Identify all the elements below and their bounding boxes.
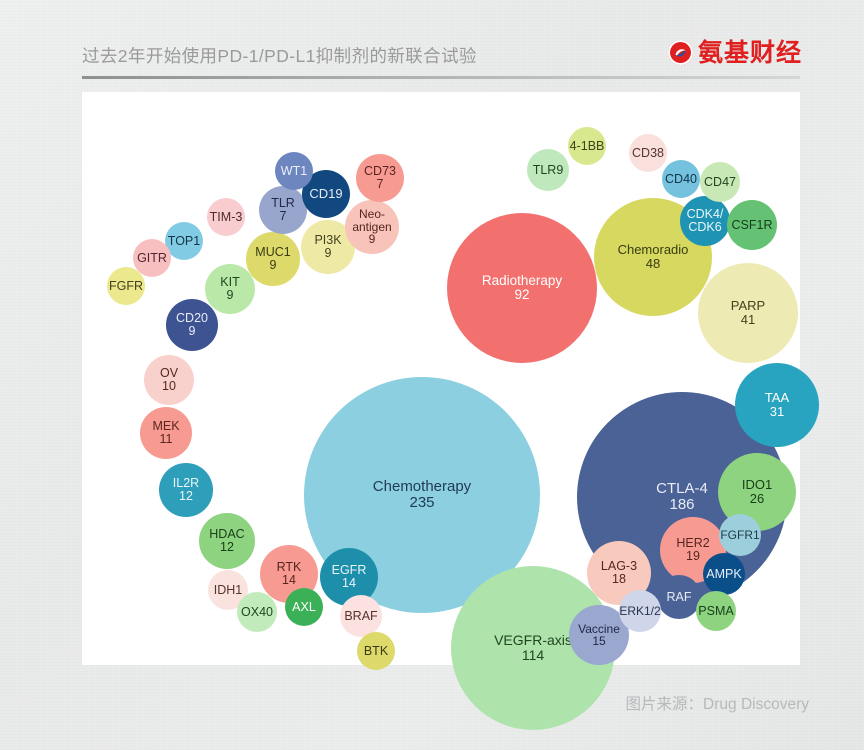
bubble-muc1[interactable]: MUC19 [246, 232, 300, 286]
bubble-ampk[interactable]: AMPK [703, 553, 745, 595]
bubble-value: 11 [160, 433, 173, 446]
bubble-raf[interactable]: RAF [657, 575, 701, 619]
bubble-cdk4-cdk6[interactable]: CDK4/ CDK6 [680, 196, 730, 246]
bubble-radiotherapy[interactable]: Radiotherapy92 [447, 213, 597, 363]
brand-name: 氨基财经 [698, 40, 802, 65]
bubble-kit[interactable]: KIT9 [205, 264, 255, 314]
bubble-tlr9[interactable]: TLR9 [527, 149, 569, 191]
brand-logo: 氨基财经 [668, 40, 802, 65]
bubble-value: 48 [646, 257, 660, 271]
bubble-label: AMPK [706, 568, 741, 581]
bubble-label: TAA [765, 391, 789, 405]
bubble-label: GITR [137, 252, 167, 265]
bubble-label: FGFR [109, 280, 143, 293]
header-divider [82, 76, 800, 79]
bubble-value: 9 [189, 325, 196, 338]
bubble-value: 12 [179, 490, 193, 503]
bubble-4-1bb[interactable]: 4-1BB [568, 127, 606, 165]
bubble-value: 14 [342, 577, 356, 590]
bubble-cd20[interactable]: CD209 [166, 299, 218, 351]
bubble-label: Neo- antigen [352, 208, 391, 233]
bubble-value: 26 [750, 492, 764, 506]
bubble-label: IDO1 [742, 478, 772, 492]
bubble-btk[interactable]: BTK [357, 632, 395, 670]
bubble-value: 10 [162, 380, 176, 393]
bubble-chart: Chemotherapy235CTLA-4186VEGFR-axis114Rad… [82, 92, 800, 665]
bubble-label: RAF [667, 591, 692, 604]
bubble-value: 12 [220, 541, 234, 554]
bubble-cd47[interactable]: CD47 [700, 162, 740, 202]
bubble-label: Radiotherapy [482, 274, 562, 288]
bubble-label: IDH1 [214, 584, 242, 597]
bubble-label: 4-1BB [570, 140, 605, 153]
bubble-value: 235 [409, 495, 434, 511]
bubble-ov[interactable]: OV10 [144, 355, 194, 405]
bubble-label: PSMA [698, 605, 733, 618]
bubble-value: 18 [612, 573, 626, 586]
bubble-value: 186 [669, 497, 694, 513]
page-title: 过去2年开始使用PD-1/PD-L1抑制剂的新联合试验 [82, 43, 477, 68]
bubble-axl[interactable]: AXL [285, 588, 323, 626]
bubble-label: CTLA-4 [656, 481, 708, 497]
bubble-label: CSF1R [732, 219, 773, 232]
bubble-label: Chemotherapy [373, 479, 471, 495]
bubble-tlr[interactable]: TLR7 [259, 186, 307, 234]
bubble-label: ERK1/2 [619, 605, 660, 617]
source-caption: 图片来源：Drug Discovery [626, 692, 809, 714]
bubble-label: BRAF [344, 610, 377, 623]
bubble-value: 19 [686, 550, 700, 563]
bubble-braf[interactable]: BRAF [340, 595, 382, 637]
slide-header: 过去2年开始使用PD-1/PD-L1抑制剂的新联合试验 氨基财经 [0, 0, 864, 92]
bubble-fgfr[interactable]: FGFR [107, 267, 145, 305]
bubble-cd40[interactable]: CD40 [662, 160, 700, 198]
bubble-value: 15 [592, 635, 605, 647]
bubble-ox40[interactable]: OX40 [237, 592, 277, 632]
bubble-label: CD40 [665, 173, 697, 186]
bubble-taa[interactable]: TAA31 [735, 363, 819, 447]
bubble-value: 14 [282, 574, 296, 587]
bubble-psma[interactable]: PSMA [696, 591, 736, 631]
bubble-label: AXL [292, 601, 316, 614]
bubble-label: TLR9 [533, 164, 564, 177]
bubble-value: 9 [325, 247, 332, 260]
bubble-label: FGFR1 [720, 529, 759, 541]
bubble-value: 9 [369, 233, 376, 245]
bubble-csf1r[interactable]: CSF1R [727, 200, 777, 250]
bubble-label: CDK4/ CDK6 [687, 208, 724, 234]
bubble-label: PARP [731, 299, 765, 313]
bubble-value: 92 [514, 288, 529, 302]
circle-swirl-logo-icon [668, 40, 693, 65]
bubble-label: OX40 [241, 606, 273, 619]
bubble-label: WT1 [281, 165, 307, 178]
bubble-cd38[interactable]: CD38 [629, 134, 667, 172]
bubble-label: TIM-3 [210, 211, 243, 224]
bubble-il2r[interactable]: IL2R12 [159, 463, 213, 517]
slide-root: 过去2年开始使用PD-1/PD-L1抑制剂的新联合试验 氨基财经 Chemoth… [0, 0, 864, 750]
bubble-value: 41 [741, 313, 755, 327]
bubble-hdac[interactable]: HDAC12 [199, 513, 255, 569]
chart-panel: Chemotherapy235CTLA-4186VEGFR-axis114Rad… [82, 92, 800, 665]
bubble-parp[interactable]: PARP41 [698, 263, 798, 363]
bubble-mek[interactable]: MEK11 [140, 407, 192, 459]
bubble-label: CD19 [309, 187, 342, 201]
bubble-value: 9 [227, 289, 234, 302]
bubble-label: BTK [364, 645, 388, 658]
bubble-cd73[interactable]: CD737 [356, 154, 404, 202]
bubble-label: TOP1 [168, 235, 200, 248]
bubble-label: CD47 [704, 176, 736, 189]
bubble-wt1[interactable]: WT1 [275, 152, 313, 190]
bubble-value: 7 [377, 178, 384, 191]
bubble-value: 9 [270, 259, 277, 272]
bubble-value: 114 [522, 648, 544, 663]
bubble-fgfr1[interactable]: FGFR1 [719, 514, 761, 556]
bubble-neo-antigen[interactable]: Neo- antigen9 [345, 200, 399, 254]
bubble-label: CD38 [632, 147, 664, 160]
bubble-label: VEGFR-axis [494, 633, 572, 648]
bubble-value: 31 [770, 405, 784, 419]
bubble-value: 7 [280, 210, 287, 223]
bubble-tim-3[interactable]: TIM-3 [207, 198, 245, 236]
bubble-erk1-2[interactable]: ERK1/2 [619, 590, 661, 632]
bubble-label: Chemoradio [618, 243, 689, 257]
